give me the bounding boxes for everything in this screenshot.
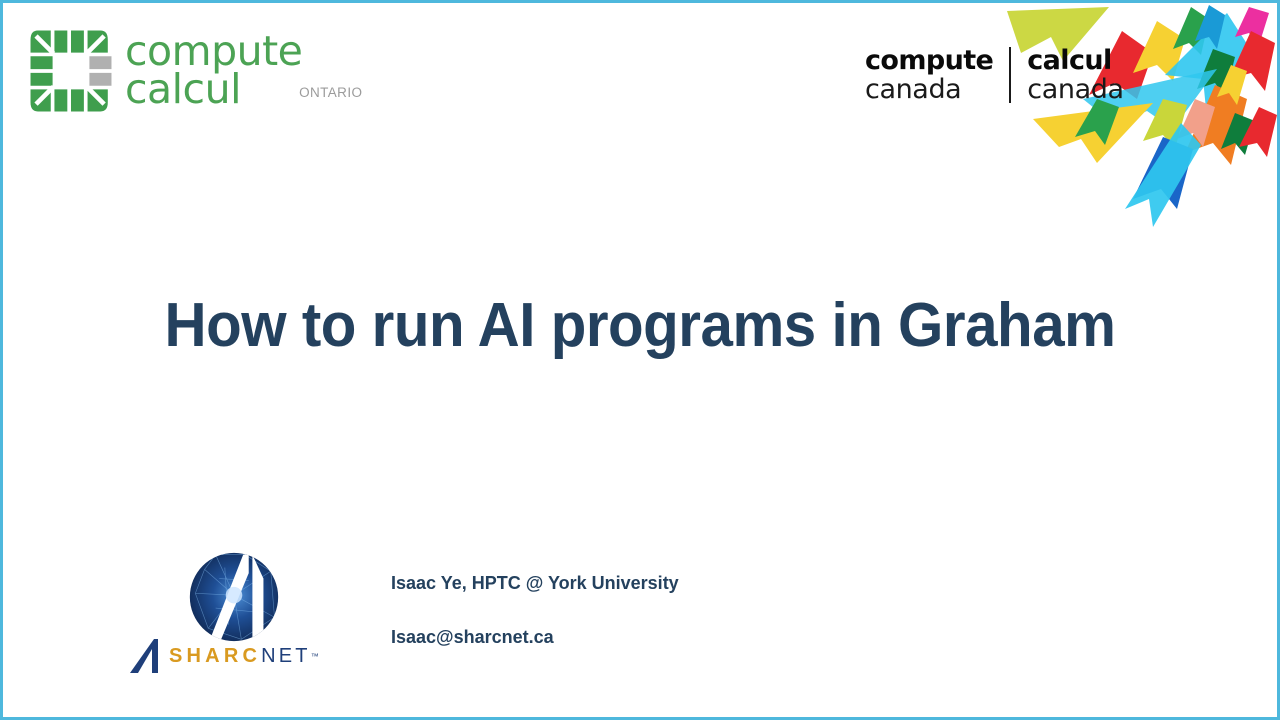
sharcnet-brand-net: NET (261, 645, 311, 668)
cc-french-column: calcul canada (1027, 47, 1123, 103)
sharcnet-wordmark: SHARC NET ™ (128, 636, 343, 676)
cc-word-canada-fr: canada (1027, 76, 1123, 103)
compute-ontario-mark-icon (25, 25, 117, 117)
compute-canada-logo: compute canada calcul canada (865, 47, 1124, 103)
cc-word-compute: compute (865, 47, 993, 74)
presenter-name: Isaac Ye, HPTC @ York University (391, 573, 679, 594)
compute-ontario-wordmark: compute calcul ONTARIO (125, 33, 302, 108)
slide-footer: SHARC NET ™ Isaac Ye, HPTC @ York Univer… (128, 543, 828, 683)
sharcnet-brand-sharc: SHARC (169, 645, 261, 668)
sharcnet-logo: SHARC NET ™ (128, 543, 343, 673)
cc-word-canada-en: canada (865, 76, 993, 103)
cc-english-column: compute canada (865, 47, 993, 103)
presenter-email: Isaac@sharcnet.ca (391, 627, 554, 648)
sharcnet-sphere-icon (188, 551, 280, 643)
compute-ontario-logo: compute calcul ONTARIO (25, 25, 302, 117)
cc-divider (1009, 47, 1011, 103)
presentation-slide: compute calcul ONTARIO (0, 0, 1280, 720)
sharcnet-lambda-icon (128, 637, 172, 675)
co-word-calcul: calcul (125, 71, 302, 109)
co-word-ontario: ONTARIO (299, 87, 362, 99)
cc-word-calcul: calcul (1027, 47, 1123, 74)
confetti-arrows-graphic (977, 3, 1277, 233)
sharcnet-trademark: ™ (311, 652, 319, 661)
slide-title: How to run AI programs in Graham (41, 292, 1239, 360)
